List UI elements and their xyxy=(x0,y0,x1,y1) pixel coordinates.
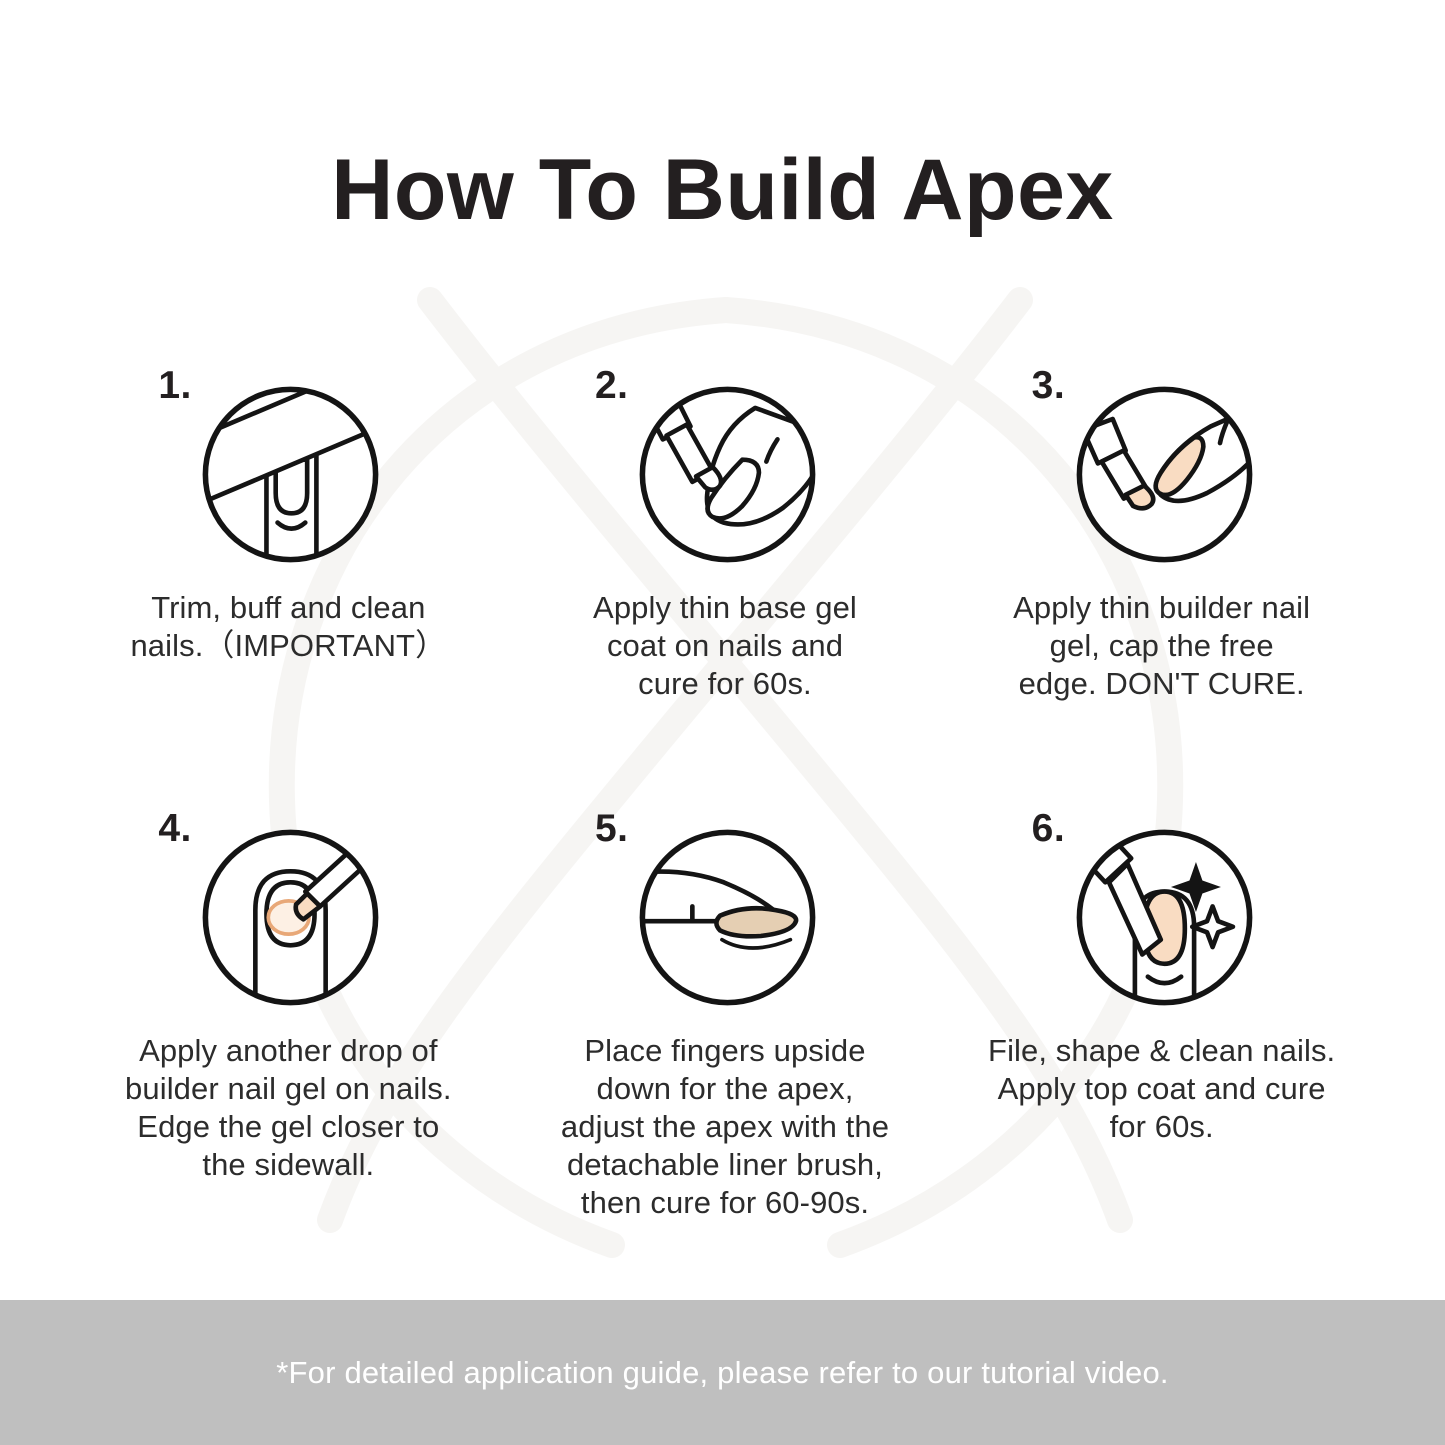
step-caption-3: Apply thin builder nail gel, cap the fre… xyxy=(987,589,1337,703)
step-item-3: 3. xyxy=(943,360,1380,703)
page-title: How To Build Apex xyxy=(0,140,1445,240)
step-number-2: 2. xyxy=(595,366,629,405)
step-number-4: 4. xyxy=(158,809,192,848)
step-item-5: 5. xyxy=(507,803,944,1222)
brush-capping-free-edge-icon xyxy=(1072,382,1257,567)
footer-bar: *For detailed application guide, please … xyxy=(0,1300,1445,1445)
steps-grid: 1. xyxy=(70,360,1380,1222)
nail-file-shaping-sparkle-icon xyxy=(1072,825,1257,1010)
step-number-3: 3. xyxy=(1032,366,1066,405)
step-figure-1: 1. xyxy=(138,360,438,575)
step-number-5: 5. xyxy=(595,809,629,848)
brush-dropping-gel-on-nail-icon xyxy=(198,825,383,1010)
step-number-1: 1. xyxy=(158,366,192,405)
step-caption-1: Trim, buff and clean nails.（IMPORTANT） xyxy=(113,589,463,665)
step-figure-4: 4. xyxy=(138,803,438,1018)
step-number-6: 6. xyxy=(1032,809,1066,848)
step-figure-2: 2. xyxy=(575,360,875,575)
step-figure-6: 6. xyxy=(1012,803,1312,1018)
step-figure-5: 5. xyxy=(575,803,875,1018)
brush-applying-base-gel-icon xyxy=(635,382,820,567)
step-figure-3: 3. xyxy=(1012,360,1312,575)
step-item-2: 2. xyxy=(507,360,944,703)
step-caption-5: Place fingers upside down for the apex, … xyxy=(550,1032,900,1222)
step-item-4: 4. xyxy=(70,803,507,1222)
infographic-page: How To Build Apex 1. xyxy=(0,0,1445,1445)
step-caption-4: Apply another drop of builder nail gel o… xyxy=(113,1032,463,1184)
step-item-6: 6. xyxy=(943,803,1380,1222)
finger-upside-down-apex-icon xyxy=(635,825,820,1010)
footer-note: *For detailed application guide, please … xyxy=(276,1354,1168,1392)
step-caption-2: Apply thin base gel coat on nails and cu… xyxy=(550,589,900,703)
nail-file-over-finger-icon xyxy=(198,382,383,567)
step-caption-6: File, shape & clean nails. Apply top coa… xyxy=(987,1032,1337,1146)
step-item-1: 1. xyxy=(70,360,507,703)
